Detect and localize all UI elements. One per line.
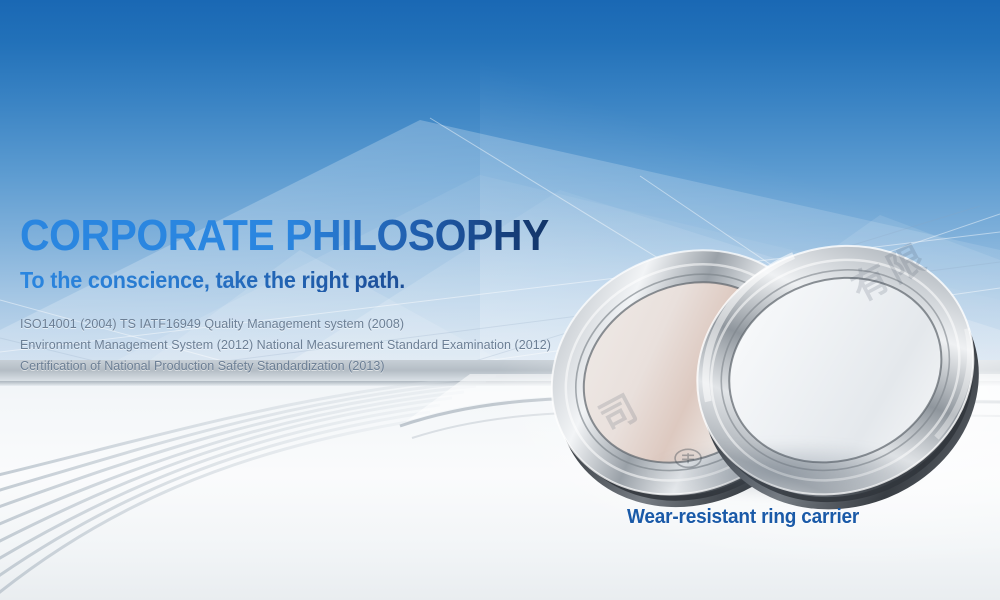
- headline-word-corporate: CORPORATE: [20, 211, 274, 260]
- corporate-philosophy-banner: CORPORATE PHILOSOPHY To the conscience, …: [0, 0, 1000, 600]
- page-title: CORPORATE PHILOSOPHY: [20, 214, 597, 258]
- product-image-metal-rings: [536, 236, 1000, 526]
- ring-ground-shadow: [586, 426, 986, 516]
- subtitle: To the conscience, take the right path.: [20, 269, 603, 292]
- headline-word-philosophy: PHILOSOPHY: [285, 211, 549, 260]
- product-caption: Wear-resistant ring carrier: [627, 506, 859, 529]
